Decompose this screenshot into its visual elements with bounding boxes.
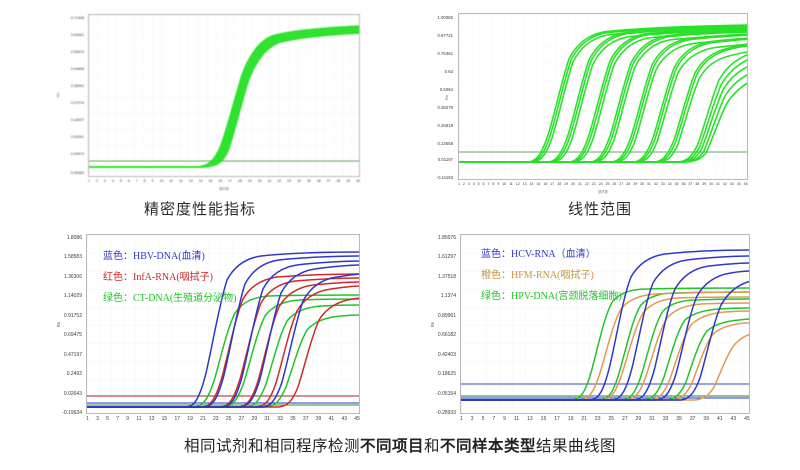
x-axis-ticks-bottom-left: 13579111315 1719212325272931 33353739414… bbox=[86, 417, 360, 422]
legend-text-green-br: 绿色：HPV-DNA(宫颈脱落细胞) bbox=[481, 289, 622, 302]
legend-text-green-bl: 绿色：CT-DNA(生殖道分泌物) bbox=[103, 291, 237, 304]
x-axis-ticks-bottom-right: 13579111315 1719212325272931 33353739414… bbox=[460, 417, 750, 422]
y-axis-title-top-right: Rn bbox=[444, 95, 449, 100]
y-axis-title-top-left: Rn bbox=[56, 93, 60, 98]
chart-svg-bottom-left: 蓝色：HBV-DNA(血清) 红色：InfA-RNA(咽拭子) 绿色：CT-DN… bbox=[87, 235, 359, 413]
plot-area-bottom-right: 蓝色：HCV-RNA（血清） 橙色：HFM-RNA(咽拭子) 绿色：HPV-DN… bbox=[461, 235, 749, 413]
caption-bold-1: 不同项目 bbox=[360, 437, 424, 455]
figure-sheet: 0.71408 0.62541 0.53674 0.44808 0.35941 … bbox=[0, 0, 800, 470]
chart-svg-bottom-right: 蓝色：HCV-RNA（血清） 橙色：HFM-RNA(咽拭子) 绿色：HPV-DN… bbox=[461, 235, 749, 413]
chart-bottom-left: 蓝色：HBV-DNA(血清) 红色：InfA-RNA(咽拭子) 绿色：CT-DN… bbox=[86, 234, 360, 414]
chart-top-right bbox=[458, 13, 748, 180]
y-axis-title-bottom-right: Rn bbox=[430, 322, 435, 327]
panel-top-right: 1.00082 0.87721 0.75361 0.63 0.5064 0.38… bbox=[400, 0, 800, 225]
legend-text-orange-br: 橙色：HFM-RNA(咽拭子) bbox=[481, 268, 594, 281]
legend-text-blue-bl: 蓝色：HBV-DNA(血清) bbox=[103, 249, 205, 262]
figure-caption: 相同试剂和相同程序检测不同项目和不同样本类型结果曲线图 bbox=[0, 434, 800, 456]
chart-top-left bbox=[88, 14, 360, 177]
caption-mid: 和 bbox=[424, 437, 440, 455]
x-axis-ticks-top-right: 123456789 1011121314151617 1819202122232… bbox=[458, 183, 748, 187]
plot-area-bottom-left: 蓝色：HBV-DNA(血清) 红色：InfA-RNA(咽拭子) 绿色：CT-DN… bbox=[87, 235, 359, 413]
chart-svg-top-left bbox=[89, 15, 359, 176]
x-axis-title-top-right: 循环数 bbox=[458, 189, 748, 194]
panel-bottom-left: 蓝色：HBV-DNA(血清) 红色：InfA-RNA(咽拭子) 绿色：CT-DN… bbox=[0, 225, 400, 425]
y-axis-title-bottom-left: Rn bbox=[56, 322, 61, 327]
x-axis-ticks-top-left: 12345678 9101112131415 16171819202122 23… bbox=[88, 180, 360, 183]
legend-text-blue-br: 蓝色：HCV-RNA（血清） bbox=[481, 247, 596, 260]
legend-text-red-bl: 红色：InfA-RNA(咽拭子) bbox=[103, 270, 213, 283]
caption-part-2: 结果曲线图 bbox=[536, 437, 616, 455]
plot-area-top-left bbox=[89, 15, 359, 176]
panel-top-left: 0.71408 0.62541 0.53674 0.44808 0.35941 … bbox=[0, 0, 400, 225]
subtitle-top-left: 精密度性能指标 bbox=[0, 198, 400, 219]
caption-bold-2: 不同样本类型 bbox=[440, 437, 536, 455]
panel-bottom-right: 蓝色：HCV-RNA（血清） 橙色：HFM-RNA(咽拭子) 绿色：HPV-DN… bbox=[400, 225, 800, 425]
x-axis-title-top-left: 循环数 bbox=[88, 186, 360, 191]
chart-svg-top-right bbox=[459, 14, 747, 179]
chart-bottom-right: 蓝色：HCV-RNA（血清） 橙色：HFM-RNA(咽拭子) 绿色：HPV-DN… bbox=[460, 234, 750, 414]
caption-part-1: 相同试剂和相同程序检测 bbox=[184, 437, 360, 455]
plot-area-top-right bbox=[459, 14, 747, 179]
subtitle-top-right: 线性范围 bbox=[400, 198, 800, 219]
